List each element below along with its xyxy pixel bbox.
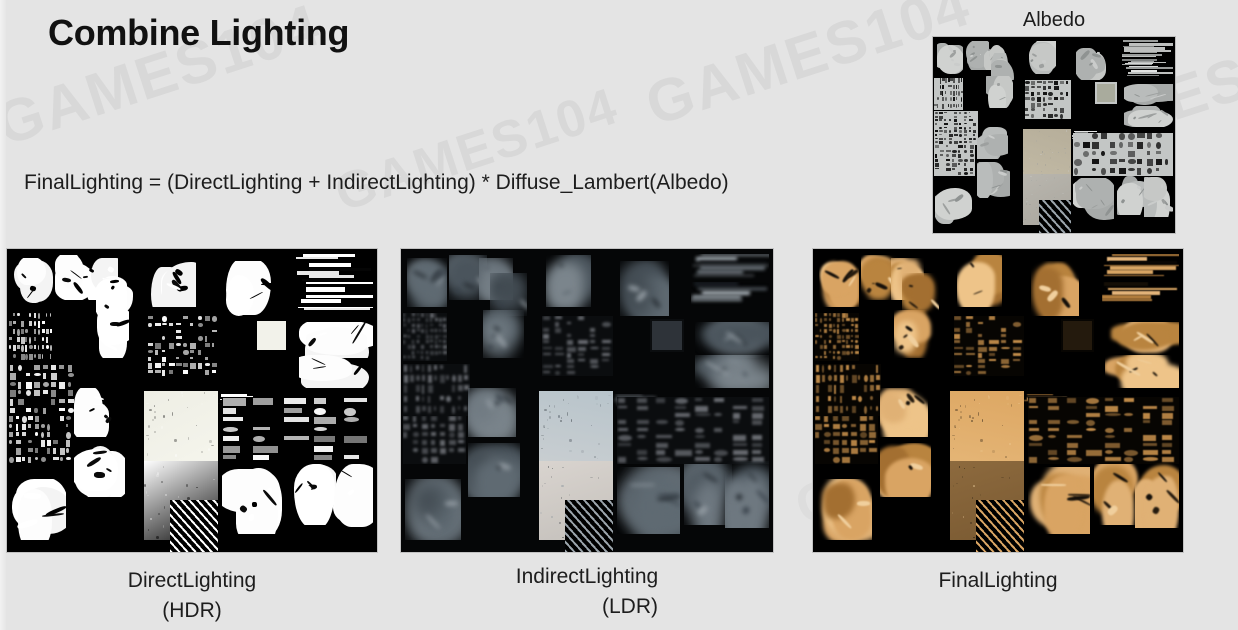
texture-grid-cell (426, 351, 429, 354)
texture-speckle (149, 409, 152, 411)
texture-grid-cell (970, 172, 973, 174)
texture-grid-cell (1029, 406, 1038, 409)
texture-grid-cell (176, 343, 180, 346)
texture-grid-cell (869, 424, 874, 431)
texture-grid-cell (422, 416, 426, 421)
texture-atlas-cell (1135, 461, 1179, 528)
texture-grid-cell (1043, 86, 1047, 90)
texture-grid-cell (34, 313, 36, 318)
texture-grid-cell (59, 365, 64, 370)
texture-grid-cell (969, 116, 971, 118)
texture-grid-cell (834, 365, 836, 372)
texture-grid-cell (1101, 168, 1105, 175)
texture-grid-cell (9, 416, 13, 422)
texture-grid-cell (939, 116, 943, 119)
texture-grid-cell (35, 416, 39, 422)
texture-speckle (1039, 185, 1041, 186)
texture-grid-cell (1124, 450, 1138, 456)
texture-grid-cell (435, 351, 438, 355)
texture-speckle (1011, 404, 1012, 407)
texture-grid-cell (422, 432, 429, 436)
texture-grid-cell (29, 345, 32, 349)
texture-atlas-cell (815, 364, 882, 416)
texture-grid-cell (824, 324, 827, 327)
texture-speckle (540, 512, 541, 514)
texture-grid-cell (28, 457, 30, 463)
texture-hatch (170, 500, 218, 552)
texture-atlas-cell (617, 397, 770, 464)
texture-grid-cell (578, 316, 584, 320)
texture-grid-cell (1048, 398, 1057, 403)
texture-grid-cell (1025, 108, 1027, 111)
texture-grid-cell (675, 450, 691, 456)
texture-grid-cell (637, 428, 648, 432)
texture-grid-cell (833, 424, 840, 428)
texture-grid-cell (1128, 151, 1135, 157)
texture-grid-cell (961, 97, 962, 102)
texture-grid-cell (1147, 159, 1154, 166)
texture-grid-cell (714, 457, 723, 461)
texture-grid-cell (940, 154, 943, 156)
texture-grid-cell (21, 337, 24, 344)
texture-grid-cell (404, 385, 407, 392)
texture-grid-cell (695, 457, 711, 460)
texture-grid-cell (966, 353, 975, 356)
texture-grid-cell (417, 318, 420, 320)
texture-grid-cell (834, 406, 838, 411)
texture-grid-cell (68, 373, 75, 377)
texture-grid-cell (555, 353, 564, 356)
texture-stripe (701, 254, 769, 257)
texture-grid-cell (284, 408, 302, 413)
texture-grid-cell (1054, 86, 1059, 89)
texture-grid-cell (1156, 142, 1161, 149)
texture-grid-cell (822, 375, 826, 382)
texture-detail (1068, 494, 1091, 496)
texture-grid-cell (1025, 92, 1028, 94)
texture-grid-cell (590, 365, 599, 368)
texture-grid-cell (66, 432, 71, 439)
texture-speckle (146, 491, 147, 494)
texture-grid-cell (205, 316, 211, 321)
texture-atlas-cell (74, 443, 126, 498)
texture-grid-cell (43, 390, 48, 394)
texture-grid-cell (344, 398, 366, 402)
texture-grid-cell (1105, 398, 1113, 401)
texture-blob (908, 273, 934, 311)
texture-grid-cell (422, 375, 425, 381)
texture-atlas-cell (468, 443, 520, 498)
texture-grid-cell (1105, 413, 1121, 416)
texture-grid-cell (449, 424, 455, 430)
texture-grid-cell (637, 420, 649, 424)
texture-grid-cell (939, 138, 942, 140)
texture-grid-cell (29, 321, 31, 326)
texture-grid-cell (954, 371, 961, 373)
texture-grid-cell (314, 398, 325, 404)
texture-atlas-cell (222, 397, 374, 464)
texture-grid-cell (858, 396, 862, 402)
texture-stripe (309, 275, 354, 278)
texture-grid-cell (1031, 103, 1035, 108)
texture-speckle (559, 522, 561, 524)
texture-grid-cell (989, 359, 996, 362)
texture-grid-cell (148, 316, 153, 319)
texture-atlas-cell (88, 310, 129, 358)
texture-grid-cell (403, 424, 409, 430)
texture-grid-cell (952, 154, 956, 157)
texture-grid-cell (578, 359, 585, 362)
texture-grid-cell (1060, 108, 1065, 113)
texture-grid-cell (935, 159, 939, 163)
texture-grid-cell (1031, 97, 1034, 101)
texture-grid-cell (42, 321, 45, 324)
texture-grid-cell (1165, 159, 1169, 165)
texture-grid-cell (752, 435, 762, 440)
texture-grid-cell (714, 428, 722, 432)
texture-grid-cell (439, 335, 441, 338)
texture-speckle (1023, 170, 1024, 172)
texture-grid-cell (1143, 450, 1158, 455)
texture-grid-cell (60, 448, 65, 454)
texture-grid-cell (1105, 435, 1115, 438)
texture-speckle (561, 497, 562, 499)
texture-grid-cell (944, 127, 947, 129)
texture-grid-cell (1067, 443, 1078, 449)
texture-grid-cell (942, 97, 944, 101)
texture-grid-cell (9, 457, 14, 464)
texture-grid-cell (852, 406, 856, 413)
texture-grid-cell (403, 340, 405, 344)
texture-grid-cell (829, 329, 832, 331)
texture-grid-cell (714, 398, 724, 402)
texture-grid-cell (940, 85, 941, 90)
texture-grid-cell (590, 328, 595, 332)
texture-grid-cell (846, 351, 849, 355)
texture-atlas-cell (691, 282, 769, 309)
texture-grid-cell (314, 436, 335, 442)
texture-grid-cell (1105, 457, 1121, 460)
texture-grid-cell (223, 436, 239, 441)
texture-grid-cell (846, 345, 850, 348)
texture-grid-cell (38, 329, 40, 335)
texture-grid-cell (846, 340, 848, 344)
texture-grid-cell (1048, 103, 1053, 105)
texture-grid-cell (939, 134, 941, 135)
texture-grid-cell (846, 313, 848, 318)
texture-grid-cell (404, 396, 408, 402)
texture-grid-cell (1086, 420, 1095, 426)
texture-stripe (304, 308, 369, 310)
texture-grid-cell (430, 345, 433, 347)
texture-atlas-cell (1124, 84, 1172, 108)
texture-grid-cell (969, 130, 971, 132)
texture-grid-cell (408, 335, 410, 339)
texture-grid-cell (50, 329, 53, 333)
texture-speckle (1037, 221, 1039, 223)
texture-grid-cell (876, 365, 878, 373)
texture-grid-cell (13, 321, 15, 324)
caption-line-1: IndirectLighting (400, 562, 774, 592)
texture-grid-cell (212, 370, 216, 373)
texture-grid-cell (860, 416, 867, 421)
texture-grid-cell (956, 91, 957, 95)
texture-grid-cell (176, 336, 182, 338)
texture-speckle (150, 518, 151, 520)
texture-grid-cell (183, 350, 188, 355)
texture-grid-cell (426, 324, 428, 328)
texture-grid-cell (1013, 340, 1022, 343)
texture-grid-cell (1119, 142, 1122, 148)
texture-grid-cell (816, 365, 819, 372)
texture-grid-cell (961, 78, 962, 82)
texture-grid-cell (869, 440, 875, 443)
texture-atlas-cell (151, 255, 195, 307)
texture-grid-cell (1074, 142, 1079, 146)
texture-grid-cell (828, 365, 832, 370)
texture-grid-cell (939, 130, 943, 131)
final-lighting-caption: FinalLighting (812, 566, 1184, 596)
texture-grid-cell (13, 345, 16, 350)
texture-grid-cell (733, 406, 747, 410)
texture-grid-cell (954, 116, 957, 119)
texture-grid-cell (989, 353, 995, 356)
texture-speckle (1026, 203, 1027, 205)
texture-grid-cell (935, 163, 940, 167)
texture-grid-cell (837, 324, 839, 328)
texture-speckle (596, 403, 597, 405)
texture-grid-cell (183, 316, 188, 319)
texture-grid-cell (16, 416, 19, 419)
texture-grid-cell (964, 130, 967, 133)
texture-grid-cell (1092, 142, 1099, 149)
texture-detail (24, 492, 41, 499)
texture-grid-cell (1156, 159, 1163, 164)
texture-speckle (980, 450, 983, 452)
texture-atlas-cell (9, 364, 76, 416)
texture-grid-cell (833, 313, 836, 317)
texture-grid-cell (966, 328, 972, 332)
texture-grid-cell (959, 134, 962, 137)
texture-stripe (306, 287, 345, 291)
texture-grid-cell (439, 324, 442, 327)
texture-grid-cell (952, 168, 955, 170)
texture-grid-cell (829, 324, 833, 329)
texture-grid-cell (870, 375, 874, 382)
texture-grid-cell (162, 323, 166, 325)
texture-grid-cell (38, 345, 40, 350)
texture-speckle (600, 404, 601, 407)
texture-grid-cell (9, 345, 10, 349)
texture-grid-cell (38, 354, 41, 359)
texture-grid-cell (833, 329, 836, 333)
texture-grid-cell (656, 398, 665, 403)
texture-blob (935, 188, 971, 220)
texture-speckle (598, 443, 600, 445)
texture-grid-cell (1001, 347, 1010, 349)
texture-grid-cell (590, 340, 595, 342)
texture-speckle (1031, 180, 1032, 181)
texture-atlas-cell (954, 316, 1024, 377)
texture-stripe (1104, 275, 1165, 276)
texture-grid-cell (17, 313, 19, 316)
texture-grid-cell (964, 159, 968, 162)
texture-grid-cell (1086, 406, 1097, 410)
texture-atlas-cell (691, 254, 769, 281)
texture-grid-cell (68, 382, 72, 387)
texture-speckle (544, 427, 546, 428)
texture-grid-cell (47, 424, 50, 431)
texture-grid-cell (1060, 81, 1064, 85)
texture-atlas-cell (815, 313, 859, 361)
texture-grid-cell (25, 345, 27, 352)
texture-atlas-cell (934, 145, 975, 176)
texture-speckle (541, 435, 544, 436)
texture-grid-cell (555, 322, 559, 327)
texture-grid-cell (417, 329, 420, 331)
texture-grid-cell (449, 416, 456, 421)
texture-grid-cell (446, 396, 450, 402)
texture-grid-cell (958, 159, 963, 162)
texture-grid-cell (440, 448, 447, 453)
texture-grid-cell (954, 347, 963, 350)
texture-grid-cell (851, 351, 853, 355)
texture-grid-cell (846, 375, 849, 381)
texture-grid-cell (1013, 322, 1022, 326)
texture-grid-cell (162, 370, 165, 376)
texture-speckle (561, 485, 563, 487)
texture-stripe (1108, 288, 1176, 290)
texture-grid-cell (1013, 353, 1021, 356)
texture-grid-cell (417, 335, 420, 338)
texture-atlas-cell (977, 162, 1011, 197)
texture-grid-cell (954, 340, 960, 343)
texture-grid-cell (46, 313, 48, 317)
texture-grid-cell (422, 448, 428, 454)
texture-grid-cell (21, 345, 23, 351)
texture-grid-cell (752, 406, 764, 412)
texture-speckle (562, 537, 564, 538)
texture-speckle (1037, 163, 1038, 165)
texture-grid-cell (833, 432, 840, 436)
texture-atlas-cell (405, 479, 461, 540)
texture-atlas-cell (1095, 82, 1117, 104)
texture-atlas-cell (880, 443, 932, 498)
texture-grid-cell (1119, 159, 1125, 162)
texture-atlas-cell (1028, 467, 1091, 534)
direct-lighting-atlas-cells (7, 249, 377, 552)
texture-stripe (691, 299, 741, 301)
texture-grid-cell (403, 416, 408, 420)
texture-grid-cell (964, 163, 966, 166)
texture-grid-cell (183, 343, 186, 347)
texture-grid-cell (1048, 86, 1050, 89)
texture-speckle (964, 468, 965, 469)
texture-grid-cell (602, 359, 609, 362)
caption-line-1: FinalLighting (812, 566, 1184, 596)
texture-detail (997, 83, 1000, 86)
texture-grid-cell (344, 455, 359, 459)
final-lighting-panel (812, 248, 1184, 553)
texture-atlas-cell (255, 319, 288, 352)
texture-grid-cell (969, 127, 971, 129)
texture-grid-cell (417, 351, 419, 353)
texture-grid-cell (1025, 97, 1030, 99)
texture-speckle (1044, 153, 1045, 155)
texture-atlas-cell (725, 461, 770, 528)
texture-grid-cell (846, 318, 849, 320)
texture-grid-cell (449, 432, 455, 438)
texture-grid-cell (855, 324, 858, 328)
texture-speckle (569, 494, 570, 495)
texture-speckle (547, 419, 548, 420)
texture-grid-cell (833, 324, 835, 327)
texture-atlas-cell (934, 111, 978, 144)
texture-grid-cell (162, 350, 165, 352)
texture-atlas-cell (13, 258, 54, 306)
texture-speckle (168, 399, 169, 400)
texture-grid-cell (966, 322, 970, 327)
texture-grid-cell (1048, 81, 1053, 84)
texture-grid-cell (637, 435, 645, 438)
texture-grid-cell (954, 119, 957, 122)
texture-grid-cell (403, 335, 406, 337)
texture-grid-cell (50, 313, 51, 317)
texture-grid-cell (51, 365, 56, 371)
texture-grid-cell (1128, 168, 1134, 171)
texture-speckle (541, 448, 542, 450)
texture-blob (822, 264, 852, 295)
texture-grid-cell (855, 351, 859, 354)
texture-grid-cell (618, 428, 628, 431)
texture-speckle (1064, 148, 1066, 149)
texture-speckle (960, 405, 961, 407)
texture-grid-cell (815, 318, 817, 321)
texture-grid-cell (51, 373, 57, 380)
albedo-caption: Albedo (932, 8, 1176, 32)
texture-atlas-cell (407, 258, 448, 306)
texture-grid-cell (284, 417, 309, 421)
texture-speckle (1026, 198, 1027, 199)
texture-atlas-cell (977, 127, 1008, 158)
texture-speckle (154, 416, 156, 419)
texture-grid-cell (851, 448, 858, 453)
texture-grid-cell (656, 435, 671, 438)
texture-grid-cell (9, 424, 12, 428)
texture-grid-cell (828, 406, 832, 413)
texture-grid-cell (695, 413, 711, 416)
texture-grid-cell (852, 396, 856, 400)
texture-grid-cell (428, 406, 432, 413)
texture-grid-cell (1048, 114, 1052, 118)
texture-grid-cell (431, 432, 436, 436)
texture-grid-cell (824, 440, 830, 444)
texture-grid-cell (162, 357, 166, 362)
texture-grid-cell (851, 324, 854, 327)
texture-grid-cell (253, 427, 270, 431)
texture-grid-cell (1037, 92, 1040, 95)
texture-grid-cell (430, 324, 433, 327)
texture-grid-cell (952, 150, 957, 153)
texture-grid-cell (443, 318, 446, 321)
texture-grid-cell (989, 340, 999, 344)
texture-speckle (1052, 152, 1054, 154)
texture-grid-cell (675, 406, 686, 410)
texture-grid-cell (59, 399, 65, 404)
texture-grid-cell (421, 324, 423, 327)
texture-grid-cell (47, 432, 50, 436)
texture-grid-cell (733, 435, 746, 441)
